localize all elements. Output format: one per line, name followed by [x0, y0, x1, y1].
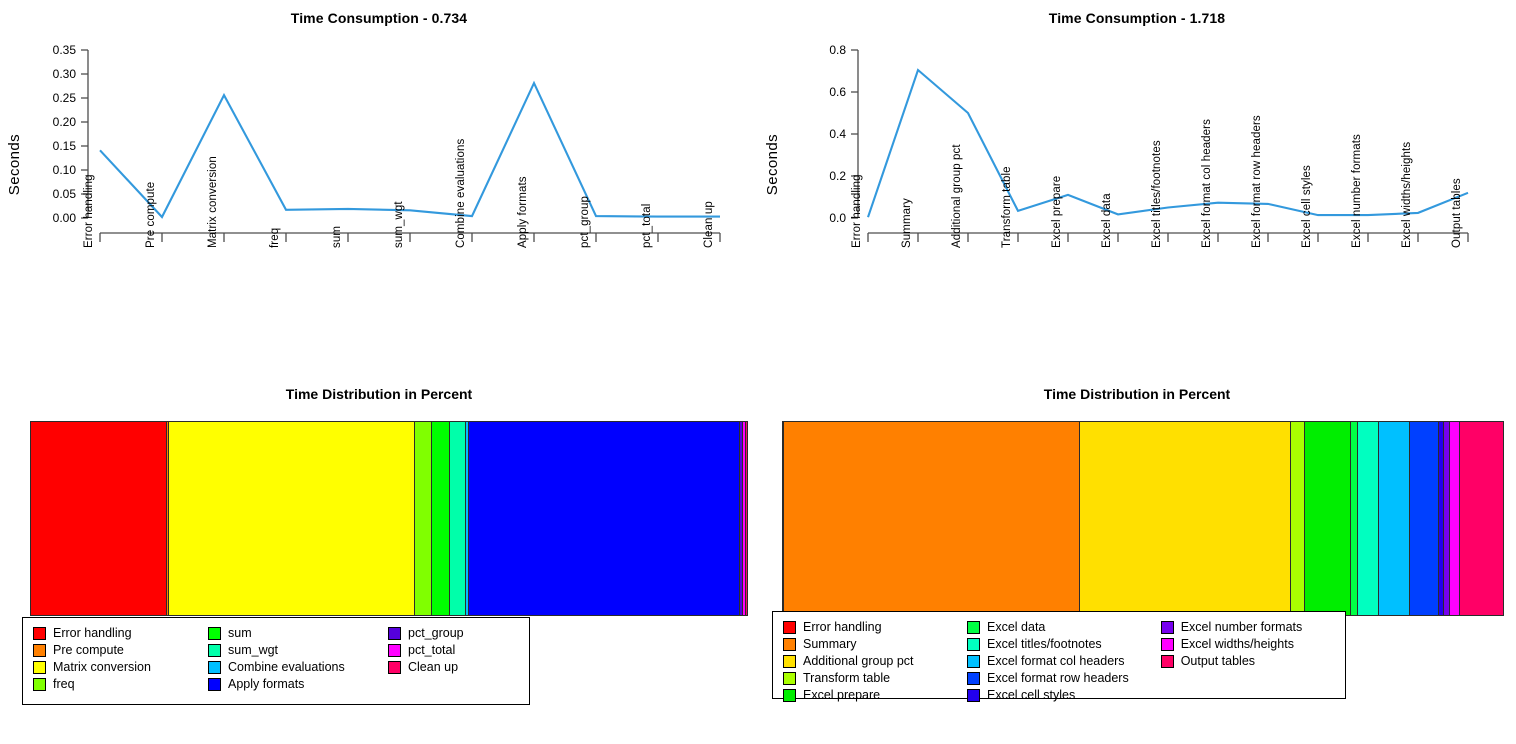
svg-text:0.2: 0.2: [829, 169, 846, 183]
left-line-chart-title: Time Consumption - 0.734: [0, 10, 758, 26]
legend-swatch-icon: [967, 638, 980, 651]
legend-item[interactable]: freq: [33, 676, 208, 692]
legend-swatch-icon: [783, 621, 796, 634]
legend-item-label: Summary: [803, 637, 856, 651]
stack-segment: [1409, 421, 1437, 616]
legend-item[interactable]: Excel data: [967, 619, 1161, 635]
stack-segment: [168, 421, 415, 616]
legend-item-label: Excel prepare: [803, 688, 880, 702]
legend-item-label: pct_group: [408, 626, 464, 640]
legend-swatch-icon: [783, 689, 796, 702]
stack-segment: [449, 421, 465, 616]
legend-item[interactable]: Excel number formats: [1161, 619, 1335, 635]
stack-segment: [414, 421, 430, 616]
stack-segment: [1449, 421, 1459, 616]
svg-text:0.30: 0.30: [53, 67, 77, 81]
legend-item-label: Excel format col headers: [987, 654, 1125, 668]
right-line-plot-svg: 0.8 0.6 0.4 0.2 0.0: [758, 34, 1516, 374]
legend-swatch-icon: [208, 644, 221, 657]
legend-swatch-icon: [1161, 655, 1174, 668]
legend-item-label: Error handling: [803, 620, 882, 634]
legend-item-label: Apply formats: [228, 677, 304, 691]
left-series-line: [100, 83, 720, 217]
svg-text:0.00: 0.00: [53, 211, 77, 225]
legend-swatch-icon: [33, 678, 46, 691]
svg-text:0.8: 0.8: [829, 43, 846, 57]
legend-item[interactable]: Matrix conversion: [33, 659, 208, 675]
legend-swatch-icon: [967, 621, 980, 634]
legend-item[interactable]: Summary: [783, 636, 967, 652]
legend-item-label: Combine evaluations: [228, 660, 345, 674]
legend-swatch-icon: [967, 655, 980, 668]
left-legend: Error handlingPre computeMatrix conversi…: [22, 617, 530, 705]
legend-swatch-icon: [33, 661, 46, 674]
legend-swatch-icon: [388, 644, 401, 657]
stack-segment: [783, 421, 1079, 616]
legend-item[interactable]: Output tables: [1161, 653, 1335, 669]
panel-right: Time Consumption - 1.718 Seconds 0.8 0.6…: [758, 0, 1516, 744]
stack-segment: [1357, 421, 1378, 616]
legend-item[interactable]: Combine evaluations: [208, 659, 388, 675]
legend-column: pct_grouppct_totalClean up: [388, 625, 518, 692]
legend-item[interactable]: Apply formats: [208, 676, 388, 692]
left-y-tick-labels: 0.35 0.30 0.25 0.20 0.15 0.10 0.05 0.00: [53, 43, 77, 225]
legend-swatch-icon: [33, 644, 46, 657]
legend-swatch-icon: [967, 689, 980, 702]
stack-segment: [1304, 421, 1350, 616]
left-line-chart: Seconds 0.35 0.30 0.25 0.20 0.15 0.10: [0, 34, 758, 374]
panel-left: Time Consumption - 0.734 Seconds 0.35 0.…: [0, 0, 758, 744]
legend-swatch-icon: [388, 661, 401, 674]
right-y-tick-labels: 0.8 0.6 0.4 0.2 0.0: [829, 43, 846, 225]
legend-item-label: Output tables: [1181, 654, 1255, 668]
legend-swatch-icon: [33, 627, 46, 640]
right-bar-chart-title: Time Distribution in Percent: [758, 386, 1516, 402]
svg-text:0.20: 0.20: [53, 115, 77, 129]
stack-segment: [30, 421, 166, 616]
stack-segment: [1350, 421, 1357, 616]
svg-text:0.15: 0.15: [53, 139, 77, 153]
legend-item-label: Clean up: [408, 660, 458, 674]
legend-item[interactable]: Excel prepare: [783, 687, 967, 703]
left-x-axis: [100, 233, 720, 242]
legend-item[interactable]: Excel cell styles: [967, 687, 1161, 703]
legend-column: Excel dataExcel titles/footnotesExcel fo…: [967, 619, 1161, 703]
svg-text:0.35: 0.35: [53, 43, 77, 57]
legend-item-label: Error handling: [53, 626, 132, 640]
legend-item[interactable]: Additional group pct: [783, 653, 967, 669]
stack-segment: [1290, 421, 1304, 616]
legend-swatch-icon: [208, 661, 221, 674]
left-line-plot-svg: 0.35 0.30 0.25 0.20 0.15 0.10 0.05 0.00: [0, 34, 758, 374]
legend-item-label: freq: [53, 677, 75, 691]
svg-text:0.05: 0.05: [53, 187, 77, 201]
legend-item-label: Excel cell styles: [987, 688, 1075, 702]
svg-text:0.0: 0.0: [829, 211, 846, 225]
legend-column: Excel number formatsExcel widths/heights…: [1161, 619, 1335, 703]
right-stacked-bar-track: [782, 421, 1504, 616]
legend-swatch-icon: [208, 627, 221, 640]
legend-column: Error handlingSummaryAdditional group pc…: [783, 619, 967, 703]
legend-swatch-icon: [783, 638, 796, 651]
left-stacked-bar-track: [30, 421, 748, 616]
legend-item[interactable]: Error handling: [783, 619, 967, 635]
stack-segment: [1079, 421, 1289, 616]
legend-item[interactable]: sum: [208, 625, 388, 641]
legend-item[interactable]: pct_group: [388, 625, 518, 641]
right-legend: Error handlingSummaryAdditional group pc…: [772, 611, 1346, 699]
right-line-chart: Seconds 0.8 0.6 0.4 0.2 0.0: [758, 34, 1516, 374]
stack-segment: [468, 421, 739, 616]
legend-swatch-icon: [967, 672, 980, 685]
svg-text:0.25: 0.25: [53, 91, 77, 105]
legend-item-label: Excel data: [987, 620, 1045, 634]
legend-item-label: Transform table: [803, 671, 890, 685]
svg-text:0.10: 0.10: [53, 163, 77, 177]
legend-swatch-icon: [783, 672, 796, 685]
right-line-chart-title: Time Consumption - 1.718: [758, 10, 1516, 26]
legend-item-label: Excel number formats: [1181, 620, 1303, 634]
svg-text:0.6: 0.6: [829, 85, 846, 99]
legend-item-label: Excel titles/footnotes: [987, 637, 1102, 651]
legend-column: sumsum_wgtCombine evaluationsApply forma…: [208, 625, 388, 692]
legend-item[interactable]: Excel titles/footnotes: [967, 636, 1161, 652]
right-x-axis: [868, 233, 1468, 242]
legend-item[interactable]: pct_total: [388, 642, 518, 658]
legend-item[interactable]: sum_wgt: [208, 642, 388, 658]
legend-swatch-icon: [388, 627, 401, 640]
legend-item[interactable]: Error handling: [33, 625, 208, 641]
legend-item-label: Additional group pct: [803, 654, 914, 668]
stack-segment: [431, 421, 449, 616]
stack-segment: [745, 421, 748, 616]
legend-item[interactable]: Excel widths/heights: [1161, 636, 1335, 652]
legend-swatch-icon: [1161, 638, 1174, 651]
legend-item-label: pct_total: [408, 643, 455, 657]
legend-item[interactable]: Pre compute: [33, 642, 208, 658]
legend-swatch-icon: [208, 678, 221, 691]
right-stacked-bar: [782, 421, 1504, 616]
right-series-line: [868, 70, 1468, 217]
legend-item-label: Excel widths/heights: [1181, 637, 1294, 651]
stack-segment: [1378, 421, 1409, 616]
legend-column: Error handlingPre computeMatrix conversi…: [33, 625, 208, 692]
stack-segment: [1459, 421, 1504, 616]
legend-item-label: Matrix conversion: [53, 660, 151, 674]
right-y-axis: [851, 50, 858, 218]
legend-item-label: sum: [228, 626, 252, 640]
legend-item[interactable]: Excel format col headers: [967, 653, 1161, 669]
legend-item-label: Pre compute: [53, 643, 124, 657]
legend-item[interactable]: Transform table: [783, 670, 967, 686]
legend-item-label: Excel format row headers: [987, 671, 1129, 685]
left-y-axis: [81, 50, 88, 218]
left-stacked-bar: [30, 421, 748, 616]
legend-item-label: sum_wgt: [228, 643, 278, 657]
legend-swatch-icon: [783, 655, 796, 668]
svg-text:0.4: 0.4: [829, 127, 846, 141]
left-bar-chart-title: Time Distribution in Percent: [0, 386, 758, 402]
legend-item[interactable]: Excel format row headers: [967, 670, 1161, 686]
legend-swatch-icon: [1161, 621, 1174, 634]
legend-item[interactable]: Clean up: [388, 659, 518, 675]
